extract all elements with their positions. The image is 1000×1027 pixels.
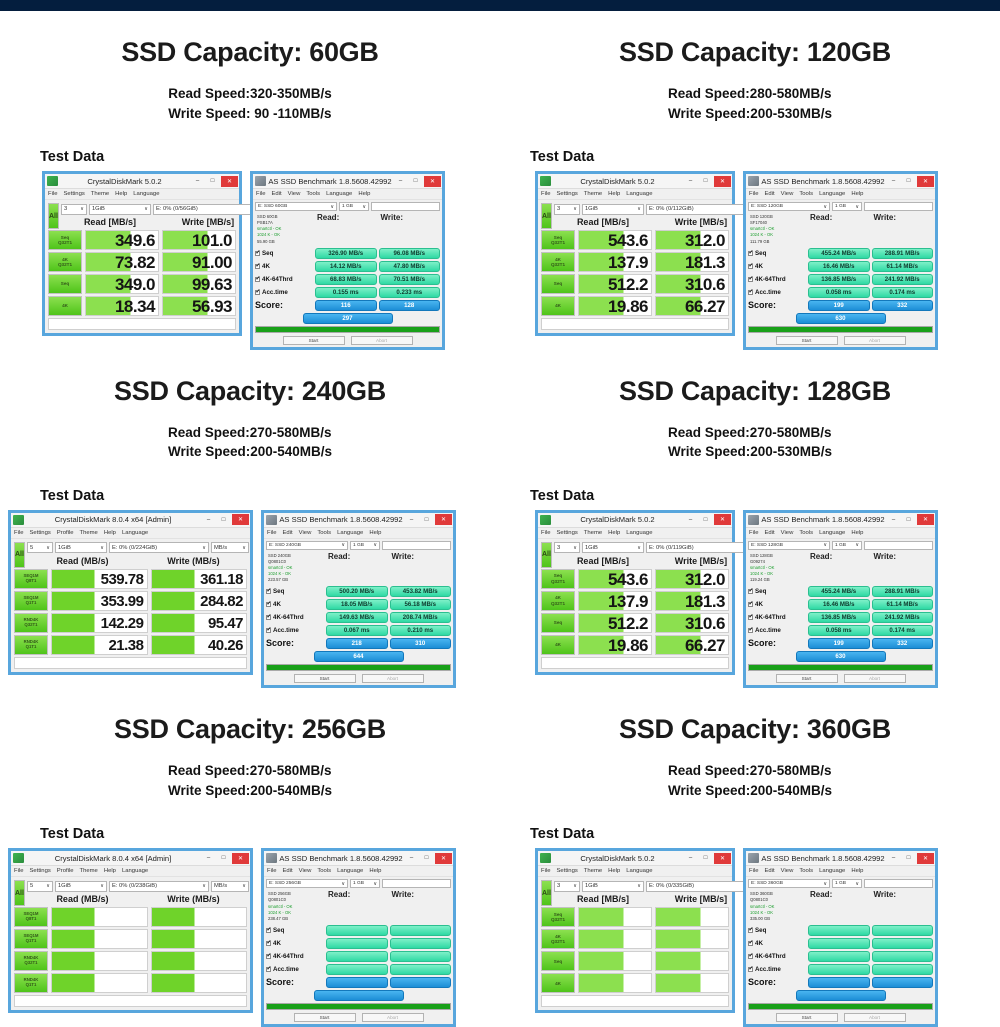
- menu-item-view[interactable]: View: [299, 530, 312, 536]
- maximize-button[interactable]: □: [217, 853, 230, 864]
- maximize-button[interactable]: □: [699, 853, 712, 864]
- assd-body: E: SSD 128GB∨1 GB∨SSD 128GBG09274smartct…: [746, 539, 935, 685]
- maximize-button[interactable]: □: [420, 514, 433, 525]
- menu-item-language[interactable]: Language: [122, 530, 148, 536]
- assd-row-label-0[interactable]: Seq: [748, 248, 806, 259]
- assd-write-value: 241.92 MB/s: [872, 274, 934, 285]
- assd-row-label-0[interactable]: Seq: [748, 586, 806, 597]
- checkbox[interactable]: [748, 290, 753, 295]
- assd-write-value: 208.74 MB/s: [390, 612, 452, 623]
- maximize-button[interactable]: □: [902, 853, 915, 864]
- menu-item-file[interactable]: File: [256, 191, 266, 197]
- size-select[interactable]: 1GiB∨: [55, 881, 107, 892]
- checkbox[interactable]: [266, 928, 271, 933]
- abort-button[interactable]: Abort: [362, 674, 424, 683]
- menu-item-view[interactable]: View: [299, 868, 312, 874]
- read-value: [51, 907, 148, 927]
- assd-row-name: 4K: [262, 263, 270, 270]
- test-size-select-value: 1 GB: [353, 543, 364, 548]
- row-label[interactable]: RND4KQ32T1: [14, 613, 48, 633]
- target-select-value: E: 0% (0/335GiB): [649, 883, 694, 889]
- menu-item-profile[interactable]: Profile: [57, 530, 74, 536]
- checkbox[interactable]: [266, 941, 271, 946]
- assd-read-value: [326, 925, 388, 936]
- menu-item-view[interactable]: View: [781, 530, 794, 536]
- menu-item-language[interactable]: Language: [626, 530, 652, 536]
- row-label-queue: Q32T1: [24, 623, 37, 628]
- assd-row-label-2[interactable]: 4K-64Thrd: [266, 951, 324, 962]
- maximize-button[interactable]: □: [217, 514, 230, 525]
- assd-row-label-2[interactable]: 4K-64Thrd: [266, 612, 324, 623]
- assd-row-label-0[interactable]: Seq: [255, 248, 313, 259]
- menu-item-file[interactable]: File: [14, 868, 24, 874]
- assd-row-label-3[interactable]: Acc.time: [748, 287, 806, 298]
- cdm-controls-col: 3∨1GiB∨E: 0% (0/119GiB)∨Read [MB/s]Write…: [554, 542, 750, 566]
- test-size-select[interactable]: 1 GB∨: [350, 879, 380, 888]
- chevron-down-icon: ∨: [242, 883, 246, 889]
- menu-item-file[interactable]: File: [749, 530, 759, 536]
- abort-button[interactable]: Abort: [351, 336, 413, 345]
- assd-row-label-0[interactable]: Seq: [266, 586, 324, 597]
- row-label[interactable]: 4KQ32T1: [541, 591, 575, 611]
- abort-button[interactable]: Abort: [844, 336, 906, 345]
- row-label[interactable]: SeqQ32T1: [48, 230, 82, 250]
- checkbox[interactable]: [255, 251, 260, 256]
- menu-item-language[interactable]: Language: [326, 191, 352, 197]
- score-read: 218: [326, 638, 388, 649]
- menu-item-tools[interactable]: Tools: [799, 868, 813, 874]
- target-select[interactable]: E: 0% (0/56GiB)∨: [153, 204, 257, 215]
- assd-row-label-3[interactable]: Acc.time: [748, 964, 806, 975]
- menu-item-help[interactable]: Help: [104, 868, 116, 874]
- chevron-down-icon: ∨: [46, 545, 50, 551]
- row-label[interactable]: Seq: [541, 613, 575, 633]
- app-icon: [266, 853, 277, 863]
- maximize-button[interactable]: □: [902, 176, 915, 187]
- menu-item-language[interactable]: Language: [626, 191, 652, 197]
- write-column-header: Write [MB/s]: [652, 217, 750, 227]
- test-size-select-value: 1 GB: [835, 881, 846, 886]
- target-select[interactable]: E: 0% (0/224GiB)∨: [109, 542, 209, 553]
- assd-read-header: Read:: [326, 552, 388, 584]
- menu-item-file[interactable]: File: [541, 191, 551, 197]
- write-speed-spec: Write Speed:200-530MB/s: [668, 104, 832, 124]
- test-size-select[interactable]: 1 GB∨: [832, 879, 862, 888]
- menu-item-language[interactable]: Language: [337, 530, 363, 536]
- chevron-down-icon: ∨: [100, 883, 104, 889]
- close-button[interactable]: ✕: [221, 176, 238, 187]
- menu-item-language[interactable]: Language: [133, 191, 159, 197]
- cdm-controls-col: 3∨1GiB∨E: 0% (0/112GiB)∨Read [MB/s]Write…: [554, 203, 750, 227]
- copy-field[interactable]: [382, 879, 451, 888]
- app-icon: [47, 176, 58, 186]
- menu-item-view[interactable]: View: [781, 191, 794, 197]
- target-select[interactable]: E: 0% (0/238GiB)∨: [109, 881, 209, 892]
- checkbox[interactable]: [748, 251, 753, 256]
- row-label[interactable]: RND4KQ32T1: [14, 951, 48, 971]
- size-select[interactable]: 1GiB∨: [582, 542, 644, 553]
- start-button[interactable]: Start: [283, 336, 345, 345]
- all-button[interactable]: All: [541, 880, 552, 906]
- row-label[interactable]: SEQ1MQ8T1: [14, 569, 48, 589]
- menu-item-help[interactable]: Help: [608, 530, 620, 536]
- menu-item-settings[interactable]: Settings: [30, 868, 51, 874]
- menu-item-settings[interactable]: Settings: [557, 530, 578, 536]
- score-write: [390, 977, 452, 988]
- minimize-button[interactable]: –: [405, 514, 418, 525]
- assd-row-name: 4K-64Thrd: [755, 276, 786, 283]
- runs-select[interactable]: 5∨: [27, 881, 53, 892]
- menu-item-tools[interactable]: Tools: [317, 868, 331, 874]
- write-speed-spec: Write Speed:200-540MB/s: [168, 781, 332, 801]
- menu-item-file[interactable]: File: [541, 530, 551, 536]
- minimize-button[interactable]: –: [202, 514, 215, 525]
- window-controls: –□✕: [405, 853, 452, 864]
- unit-select[interactable]: MB/s∨: [211, 881, 249, 892]
- size-select[interactable]: 1GiB∨: [582, 204, 644, 215]
- write-column-header: Write (MB/s): [138, 556, 249, 566]
- checkbox[interactable]: [266, 967, 271, 972]
- assd-write-value: [390, 925, 452, 936]
- start-button[interactable]: Start: [776, 1013, 838, 1022]
- row-label[interactable]: Seq: [48, 274, 82, 294]
- checkbox[interactable]: [266, 954, 271, 959]
- menu-item-tools[interactable]: Tools: [799, 530, 813, 536]
- score-write: [872, 977, 934, 988]
- close-button[interactable]: ✕: [917, 514, 934, 525]
- assd-row-label-0[interactable]: Seq: [266, 925, 324, 936]
- menu-item-language[interactable]: Language: [337, 868, 363, 874]
- menu-item-file[interactable]: File: [749, 191, 759, 197]
- assd-row-label-0[interactable]: Seq: [748, 925, 806, 936]
- assd-row-label-2[interactable]: 4K-64Thrd: [748, 274, 806, 285]
- checkbox[interactable]: [748, 928, 753, 933]
- row-label[interactable]: RND4KQ1T1: [14, 635, 48, 655]
- copy-field[interactable]: [382, 541, 451, 550]
- row-label[interactable]: 4KQ32T1: [48, 252, 82, 272]
- cdm-toolbar: All3∨1GiB∨E: 0% (0/335GiB)∨Read [MB/s]Wr…: [541, 880, 729, 906]
- close-button[interactable]: ✕: [435, 514, 452, 525]
- maximize-button[interactable]: □: [699, 176, 712, 187]
- minimize-button[interactable]: –: [202, 853, 215, 864]
- window-title: CrystalDiskMark 5.0.2: [58, 177, 191, 186]
- drive-capacity: 119.24 GB: [750, 577, 804, 583]
- write-speed-spec: Write Speed:200-540MB/s: [168, 442, 332, 462]
- assd-buttons: StartAbort: [748, 674, 933, 683]
- close-button[interactable]: ✕: [917, 176, 934, 187]
- drive-select[interactable]: E: SSD 240GB∨: [266, 541, 348, 550]
- start-button[interactable]: Start: [776, 674, 838, 683]
- menu-item-settings[interactable]: Settings: [557, 868, 578, 874]
- window-title: CrystalDiskMark 8.0.4 x64 [Admin]: [24, 515, 202, 524]
- size-select-value: 1GiB: [585, 545, 598, 551]
- assd-row-label-1[interactable]: 4K: [266, 938, 324, 949]
- close-button[interactable]: ✕: [714, 514, 731, 525]
- menu-item-language[interactable]: Language: [122, 868, 148, 874]
- menu-item-help[interactable]: Help: [369, 530, 381, 536]
- menu-item-file[interactable]: File: [14, 530, 24, 536]
- assd-read-value: 16.46 MB/s: [808, 261, 870, 272]
- size-select[interactable]: 1GiB∨: [55, 542, 107, 553]
- all-button[interactable]: All: [541, 203, 552, 229]
- menu-item-language[interactable]: Language: [819, 191, 845, 197]
- menu-item-file[interactable]: File: [267, 530, 277, 536]
- minimize-button[interactable]: –: [684, 853, 697, 864]
- drive-select[interactable]: E: SSD 360GB∨: [748, 879, 830, 888]
- menu-item-edit[interactable]: Edit: [272, 191, 282, 197]
- runs-select[interactable]: 3∨: [554, 881, 580, 892]
- copy-field[interactable]: [864, 879, 933, 888]
- maximize-button[interactable]: □: [206, 176, 219, 187]
- window-controls: –□✕: [684, 514, 731, 525]
- assd-row-label-2[interactable]: 4K-64Thrd: [748, 612, 806, 623]
- menu-item-help[interactable]: Help: [851, 868, 863, 874]
- minimize-button[interactable]: –: [405, 853, 418, 864]
- menu-item-settings[interactable]: Settings: [64, 191, 85, 197]
- test-data-label: Test Data: [40, 488, 500, 504]
- maximize-button[interactable]: □: [699, 514, 712, 525]
- row-label[interactable]: SEQ1MQ1T1: [14, 929, 48, 949]
- checkbox[interactable]: [748, 264, 753, 269]
- target-select[interactable]: E: 0% (0/112GiB)∨: [646, 204, 750, 215]
- test-size-select[interactable]: 1 GB∨: [339, 202, 369, 211]
- minimize-button[interactable]: –: [887, 176, 900, 187]
- row-label[interactable]: Seq: [541, 951, 575, 971]
- menu-item-language[interactable]: Language: [819, 868, 845, 874]
- menu-item-tools[interactable]: Tools: [799, 191, 813, 197]
- row-label[interactable]: SeqQ32T1: [541, 230, 575, 250]
- assd-buttons: StartAbort: [255, 336, 440, 345]
- assd-row-label-3[interactable]: Acc.time: [255, 287, 313, 298]
- runs-select-value: 3: [557, 883, 560, 889]
- row-label[interactable]: 4KQ32T1: [541, 929, 575, 949]
- assd-row-label-1[interactable]: 4K: [255, 261, 313, 272]
- capacity-section-3: SSD Capacity: 128GBRead Speed:270-580MB/…: [500, 350, 1000, 689]
- assd-row-label-3[interactable]: Acc.time: [748, 625, 806, 636]
- menu-item-file[interactable]: File: [267, 868, 277, 874]
- menu-item-settings[interactable]: Settings: [557, 191, 578, 197]
- assd-row-label-1[interactable]: 4K: [748, 261, 806, 272]
- copy-field[interactable]: [864, 541, 933, 550]
- assd-row-label-1[interactable]: 4K: [748, 938, 806, 949]
- all-button[interactable]: All: [14, 542, 25, 568]
- menu-item-edit[interactable]: Edit: [283, 530, 293, 536]
- minimize-button[interactable]: –: [191, 176, 204, 187]
- row-label[interactable]: Seq: [541, 274, 575, 294]
- start-button[interactable]: Start: [776, 336, 838, 345]
- menu-item-tools[interactable]: Tools: [306, 191, 320, 197]
- menu-item-language[interactable]: Language: [819, 530, 845, 536]
- close-button[interactable]: ✕: [714, 176, 731, 187]
- drive-select[interactable]: E: SSD 256GB∨: [266, 879, 348, 888]
- checkbox[interactable]: [748, 967, 753, 972]
- read-column-header: Read [MB/s]: [61, 217, 159, 227]
- runs-select[interactable]: 3∨: [554, 204, 580, 215]
- menu-item-view[interactable]: View: [288, 191, 301, 197]
- read-value: 543.6: [578, 569, 652, 589]
- copy-field[interactable]: [371, 202, 440, 211]
- menu-item-help[interactable]: Help: [104, 530, 116, 536]
- assd-row-label-3[interactable]: Acc.time: [266, 964, 324, 975]
- assd-row-label-2[interactable]: 4K-64Thrd: [748, 951, 806, 962]
- row-label[interactable]: SEQ1MQ8T1: [14, 907, 48, 927]
- menu-item-theme[interactable]: Theme: [80, 868, 98, 874]
- menu-item-theme[interactable]: Theme: [584, 191, 602, 197]
- row-label[interactable]: 4K: [541, 635, 575, 655]
- abort-button[interactable]: Abort: [844, 1013, 906, 1022]
- maximize-button[interactable]: □: [420, 853, 433, 864]
- crystaldiskmark-window: CrystalDiskMark 5.0.2–□✕FileSettingsThem…: [535, 171, 735, 336]
- row-label[interactable]: SeqQ32T1: [541, 569, 575, 589]
- checkbox[interactable]: [266, 589, 271, 594]
- minimize-button[interactable]: –: [394, 176, 407, 187]
- assd-row-label-1[interactable]: 4K: [748, 599, 806, 610]
- drive-select[interactable]: E: SSD 128GB∨: [748, 541, 830, 550]
- test-size-select[interactable]: 1 GB∨: [832, 202, 862, 211]
- cdm-menubar: FileSettingsThemeHelpLanguage: [538, 528, 732, 539]
- capacity-title: SSD Capacity: 240GB: [0, 376, 500, 407]
- minimize-button[interactable]: –: [684, 176, 697, 187]
- menu-item-theme[interactable]: Theme: [584, 868, 602, 874]
- menu-item-file[interactable]: File: [541, 868, 551, 874]
- all-button[interactable]: All: [14, 880, 25, 906]
- menu-item-help[interactable]: Help: [358, 191, 370, 197]
- as-ssd-window: AS SSD Benchmark 1.8.5608.42992–□✕FileEd…: [250, 171, 445, 349]
- window-title: AS SSD Benchmark 1.8.5608.42992: [759, 854, 887, 863]
- assd-read-value: 0.058 ms: [808, 625, 870, 636]
- cdm-result-rows: SeqQ32T1349.6101.04KQ32T173.8291.00Seq34…: [48, 230, 236, 316]
- checkbox[interactable]: [748, 589, 753, 594]
- capacity-section-5: SSD Capacity: 360GBRead Speed:270-580MB/…: [500, 688, 1000, 1027]
- cdm-titlebar: CrystalDiskMark 8.0.4 x64 [Admin]–□✕: [11, 513, 250, 528]
- menu-item-theme[interactable]: Theme: [80, 530, 98, 536]
- drive-select[interactable]: E: SSD 60GB∨: [255, 202, 337, 211]
- checkbox[interactable]: [748, 954, 753, 959]
- checkbox[interactable]: [748, 277, 753, 282]
- maximize-button[interactable]: □: [902, 514, 915, 525]
- assd-row-label-1[interactable]: 4K: [266, 599, 324, 610]
- window-title: CrystalDiskMark 5.0.2: [551, 854, 684, 863]
- row-label-queue: Q32T1: [551, 579, 565, 584]
- checkbox[interactable]: [748, 602, 753, 607]
- unit-select[interactable]: MB/s∨: [211, 542, 249, 553]
- menu-item-help[interactable]: Help: [851, 530, 863, 536]
- menu-item-edit[interactable]: Edit: [765, 868, 775, 874]
- progress-bar: [266, 1003, 451, 1010]
- assd-row-name: Acc.time: [273, 966, 299, 973]
- as-ssd-window: AS SSD Benchmark 1.8.5608.42992–□✕FileEd…: [743, 848, 938, 1026]
- menu-item-theme[interactable]: Theme: [91, 191, 109, 197]
- menu-item-language[interactable]: Language: [626, 868, 652, 874]
- read-value: [578, 973, 652, 993]
- assd-menubar: FileEditViewToolsLanguageHelp: [746, 528, 935, 539]
- start-button[interactable]: Start: [294, 674, 356, 683]
- target-select-value: E: 0% (0/112GiB): [649, 206, 694, 212]
- checkbox[interactable]: [748, 628, 753, 633]
- close-button[interactable]: ✕: [917, 853, 934, 864]
- checkbox[interactable]: [266, 615, 271, 620]
- checkbox[interactable]: [266, 628, 271, 633]
- assd-row-label-2[interactable]: 4K-64Thrd: [255, 274, 313, 285]
- test-size-select[interactable]: 1 GB∨: [350, 541, 380, 550]
- row-label[interactable]: SEQ1MQ1T1: [14, 591, 48, 611]
- all-button[interactable]: All: [541, 542, 552, 568]
- row-label-top: 4K: [555, 303, 561, 308]
- menu-item-file[interactable]: File: [48, 191, 58, 197]
- checkbox[interactable]: [266, 602, 271, 607]
- close-button[interactable]: ✕: [232, 853, 249, 864]
- abort-button[interactable]: Abort: [362, 1013, 424, 1022]
- menu-item-view[interactable]: View: [781, 868, 794, 874]
- menu-item-edit[interactable]: Edit: [283, 868, 293, 874]
- minimize-button[interactable]: –: [887, 853, 900, 864]
- size-select[interactable]: 1GiB∨: [582, 881, 644, 892]
- target-select[interactable]: E: 0% (0/335GiB)∨: [646, 881, 750, 892]
- checkbox[interactable]: [748, 941, 753, 946]
- row-label[interactable]: SeqQ32T1: [541, 907, 575, 927]
- row-label[interactable]: 4K: [541, 296, 575, 316]
- minimize-button[interactable]: –: [684, 514, 697, 525]
- row-label[interactable]: 4K: [48, 296, 82, 316]
- menu-item-edit[interactable]: Edit: [765, 191, 775, 197]
- menu-item-edit[interactable]: Edit: [765, 530, 775, 536]
- assd-titlebar: AS SSD Benchmark 1.8.5608.42992–□✕: [746, 174, 935, 189]
- runs-select[interactable]: 5∨: [27, 542, 53, 553]
- maximize-button[interactable]: □: [409, 176, 422, 187]
- chevron-down-icon: ∨: [242, 545, 246, 551]
- close-button[interactable]: ✕: [424, 176, 441, 187]
- checkbox[interactable]: [255, 290, 260, 295]
- minimize-button[interactable]: –: [887, 514, 900, 525]
- all-button[interactable]: All: [48, 203, 59, 229]
- row-label[interactable]: 4KQ32T1: [541, 252, 575, 272]
- menu-item-tools[interactable]: Tools: [317, 530, 331, 536]
- assd-read-header: Read:: [808, 213, 870, 245]
- runs-select[interactable]: 3∨: [61, 204, 87, 215]
- close-button[interactable]: ✕: [435, 853, 452, 864]
- test-size-select[interactable]: 1 GB∨: [832, 541, 862, 550]
- checkbox[interactable]: [255, 264, 260, 269]
- menu-item-help[interactable]: Help: [608, 868, 620, 874]
- window-controls: –□✕: [887, 514, 934, 525]
- close-button[interactable]: ✕: [232, 514, 249, 525]
- menu-item-profile[interactable]: Profile: [57, 868, 74, 874]
- checkbox[interactable]: [255, 277, 260, 282]
- menu-item-settings[interactable]: Settings: [30, 530, 51, 536]
- assd-row-label-3[interactable]: Acc.time: [266, 625, 324, 636]
- row-label[interactable]: 4K: [541, 973, 575, 993]
- checkbox[interactable]: [748, 615, 753, 620]
- start-button[interactable]: Start: [294, 1013, 356, 1022]
- runs-select[interactable]: 3∨: [554, 542, 580, 553]
- row-label[interactable]: RND4KQ1T1: [14, 973, 48, 993]
- drive-select[interactable]: E: SSD 120GB∨: [748, 202, 830, 211]
- copy-field[interactable]: [864, 202, 933, 211]
- size-select[interactable]: 1GiB∨: [89, 204, 151, 215]
- capacity-title: SSD Capacity: 120GB: [510, 37, 1000, 68]
- menu-item-file[interactable]: File: [749, 868, 759, 874]
- close-button[interactable]: ✕: [714, 853, 731, 864]
- menu-item-help[interactable]: Help: [369, 868, 381, 874]
- abort-button[interactable]: Abort: [844, 674, 906, 683]
- menu-item-help[interactable]: Help: [851, 191, 863, 197]
- assd-row-name: Seq: [755, 927, 766, 934]
- target-select[interactable]: E: 0% (0/119GiB)∨: [646, 542, 750, 553]
- read-column-header: Read [MB/s]: [554, 894, 652, 904]
- menu-item-help[interactable]: Help: [115, 191, 127, 197]
- menu-item-help[interactable]: Help: [608, 191, 620, 197]
- menu-item-theme[interactable]: Theme: [584, 530, 602, 536]
